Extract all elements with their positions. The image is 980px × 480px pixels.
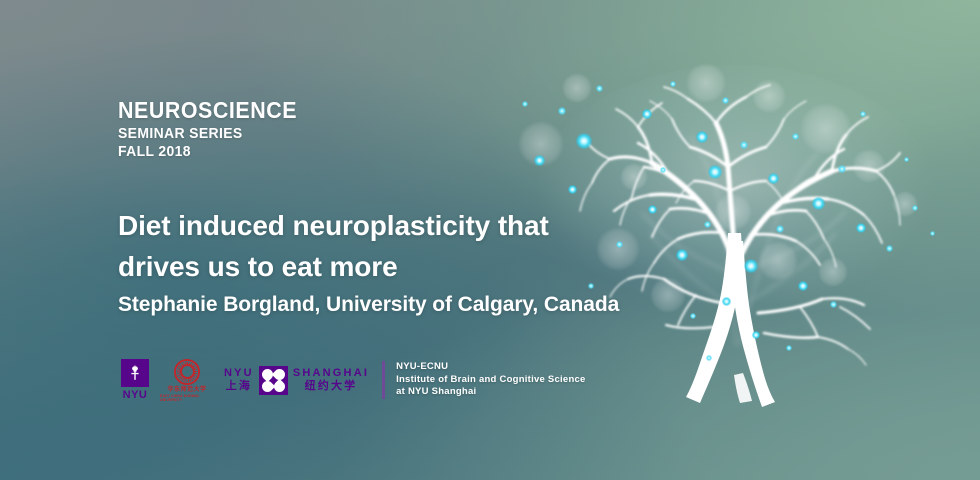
nyu-wordmark: NYU <box>123 389 148 401</box>
nyu-shanghai-logo: NYU 上海 SHANGHAI 纽约大学 <box>224 366 369 395</box>
institute-name: NYU-ECNU Institute of Brain and Cognitiv… <box>396 361 585 399</box>
series-heading: NEUROSCIENCE SEMINAR SERIES FALL 2018 <box>118 98 311 161</box>
logo-divider <box>382 361 385 399</box>
four-petal-flower-icon <box>259 366 288 395</box>
nyush-english-right: SHANGHAI <box>293 367 369 380</box>
torch-icon <box>121 359 149 387</box>
institute-line-3: at NYU Shanghai <box>396 386 585 399</box>
talk-title-line-1: Diet induced neuroplasticity that <box>118 205 638 246</box>
ecnu-logo: 华东师范大学 EAST CHINA NORMAL UNIVERSITY <box>160 359 214 402</box>
series-title: NEUROSCIENCE <box>118 98 297 122</box>
nyush-chinese-left: 上海 <box>226 380 252 393</box>
series-term: FALL 2018 <box>118 143 297 161</box>
series-subtitle: SEMINAR SERIES <box>118 125 297 143</box>
nyu-logo: NYU <box>118 359 152 401</box>
logo-bar: NYU 华东师范大学 EAST CHINA NORMAL UNIVERSITY … <box>118 357 586 403</box>
ecnu-seal-icon <box>174 359 200 385</box>
nyu-shanghai-left-text: NYU 上海 <box>224 367 254 393</box>
talk-title-line-2: drives us to eat more <box>118 246 638 287</box>
speaker-affiliation: Stephanie Borgland, University of Calgar… <box>118 293 619 317</box>
nyu-shanghai-right-text: SHANGHAI 纽约大学 <box>293 367 369 393</box>
talk-title: Diet induced neuroplasticity that drives… <box>118 205 638 287</box>
ecnu-chinese-name: 华东师范大学 <box>167 387 206 394</box>
institute-line-2: Institute of Brain and Cognitive Science <box>396 374 585 387</box>
ecnu-english-name: EAST CHINA NORMAL UNIVERSITY <box>160 394 214 402</box>
seminar-poster: NEUROSCIENCE SEMINAR SERIES FALL 2018 Di… <box>0 0 980 480</box>
nyush-english-left: NYU <box>224 367 254 380</box>
nyush-chinese-right: 纽约大学 <box>305 380 358 393</box>
institute-line-1: NYU-ECNU <box>396 361 585 374</box>
